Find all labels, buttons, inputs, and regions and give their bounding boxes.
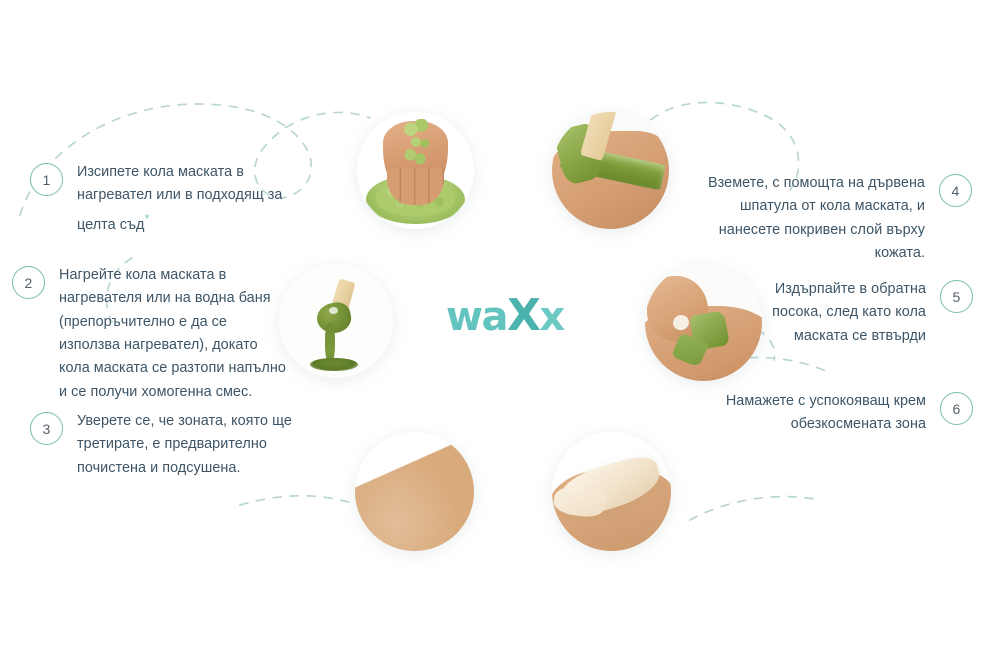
photo-clean-skin (355, 432, 474, 551)
logo-part-wa: wa (446, 294, 507, 340)
waxx-instructions-infographic: waXx 1 Изсипете кола маската в нагревате… (0, 0, 1000, 649)
step-2: 2 Нагрейте кола маската в нагревателя ил… (12, 264, 290, 404)
logo-part-x-large: X (507, 290, 539, 341)
step-2-text: Нагрейте кола маската в нагревателя или … (59, 264, 290, 404)
wax-pool (310, 358, 358, 372)
step-1-footnote-mark: * (144, 211, 149, 226)
photo-soothing-cream (552, 432, 671, 551)
step-6: 6 Намажете с успокояващ крем обезкосмена… (718, 390, 973, 437)
logo-part-x-small: x (539, 294, 563, 340)
step-5-text: Издърпайте в обратна посока, след като к… (737, 278, 926, 348)
step-3: 3 Уверете се, че зоната, която ще третир… (30, 410, 320, 480)
step-4: 4 Вземете, с помощта на дървена шпатула … (680, 172, 972, 265)
soothing-cream-illustration (552, 432, 671, 551)
step-5-number: 5 (940, 280, 973, 313)
photo-melted-spatula (279, 264, 393, 378)
step-1-body: Изсипете кола маската в нагревател или в… (77, 164, 282, 232)
melted-wax-spatula-illustration (279, 264, 393, 378)
step-4-text: Вземете, с помощта на дървена шпатула от… (680, 172, 925, 265)
falling-beads (401, 119, 434, 170)
step-3-text: Уверете се, че зоната, която ще третират… (77, 410, 320, 480)
step-6-text: Намажете с успокояващ крем обезкосмената… (718, 390, 926, 437)
step-4-number: 4 (939, 174, 972, 207)
waxx-logo: waXx (446, 290, 564, 341)
applying-wax-illustration (552, 112, 669, 229)
step-1-text: Изсипете кола маската в нагревател или в… (77, 161, 315, 237)
wax-beads-illustration (357, 112, 474, 229)
step-2-number: 2 (12, 266, 45, 299)
step-1-number: 1 (30, 163, 63, 196)
step-5: 5 Издърпайте в обратна посока, след като… (737, 278, 973, 348)
clean-skin-illustration (355, 432, 474, 551)
step-3-number: 3 (30, 412, 63, 445)
step-1: 1 Изсипете кола маската в нагревател или… (30, 161, 315, 237)
photo-applying-wax (552, 112, 669, 229)
photo-wax-beads (357, 112, 474, 229)
step-6-number: 6 (940, 392, 973, 425)
